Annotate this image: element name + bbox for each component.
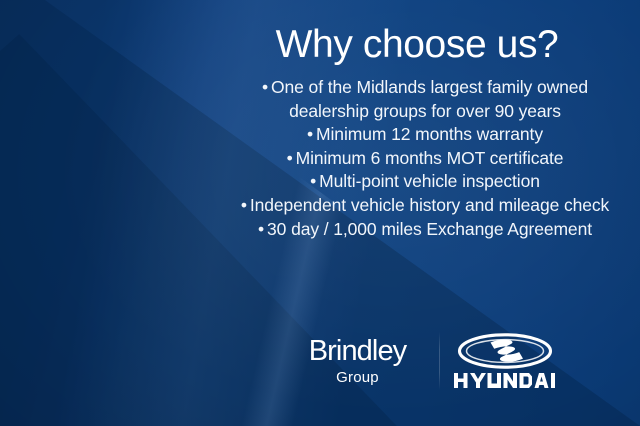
list-item: •Independent vehicle history and mileage…	[224, 194, 626, 218]
benefits-list: •One of the Midlands largest family owne…	[212, 76, 640, 241]
list-item: •Minimum 12 months warranty	[224, 123, 626, 147]
list-item: •Minimum 6 months MOT certificate	[224, 147, 626, 171]
list-item-label: 30 day / 1,000 miles Exchange Agreement	[267, 219, 592, 239]
promotional-banner: Why choose us? •One of the Midlands larg…	[0, 0, 640, 426]
banner-content: Why choose us? •One of the Midlands larg…	[212, 0, 640, 426]
brindley-group-logo: Brindley Group	[289, 337, 439, 385]
list-item-label: Minimum 6 months MOT certificate	[296, 148, 564, 168]
list-item: •Multi-point vehicle inspection	[224, 170, 626, 194]
list-item-label: Independent vehicle history and mileage …	[250, 195, 609, 215]
bullet-icon: •	[262, 77, 268, 97]
list-item-label: Minimum 12 months warranty	[316, 124, 543, 144]
list-item: •30 day / 1,000 miles Exchange Agreement	[224, 218, 626, 242]
banner-title: Why choose us?	[212, 22, 640, 68]
hyundai-logo	[440, 333, 564, 389]
logo-row: Brindley Group	[212, 322, 640, 400]
bullet-icon: •	[258, 219, 264, 239]
bullet-icon: •	[241, 195, 247, 215]
brindley-wordmark: Brindley	[289, 337, 427, 366]
list-item: •One of the Midlands largest family owne…	[224, 76, 626, 123]
hyundai-wordmark-icon	[453, 372, 557, 389]
list-item-label: Multi-point vehicle inspection	[319, 171, 540, 191]
hyundai-ellipse-h-icon	[457, 333, 553, 369]
bullet-icon: •	[307, 124, 313, 144]
brindley-subtitle: Group	[289, 370, 427, 385]
bullet-icon: •	[310, 171, 316, 191]
list-item-label: One of the Midlands largest family owned…	[271, 77, 588, 121]
bullet-icon: •	[287, 148, 293, 168]
